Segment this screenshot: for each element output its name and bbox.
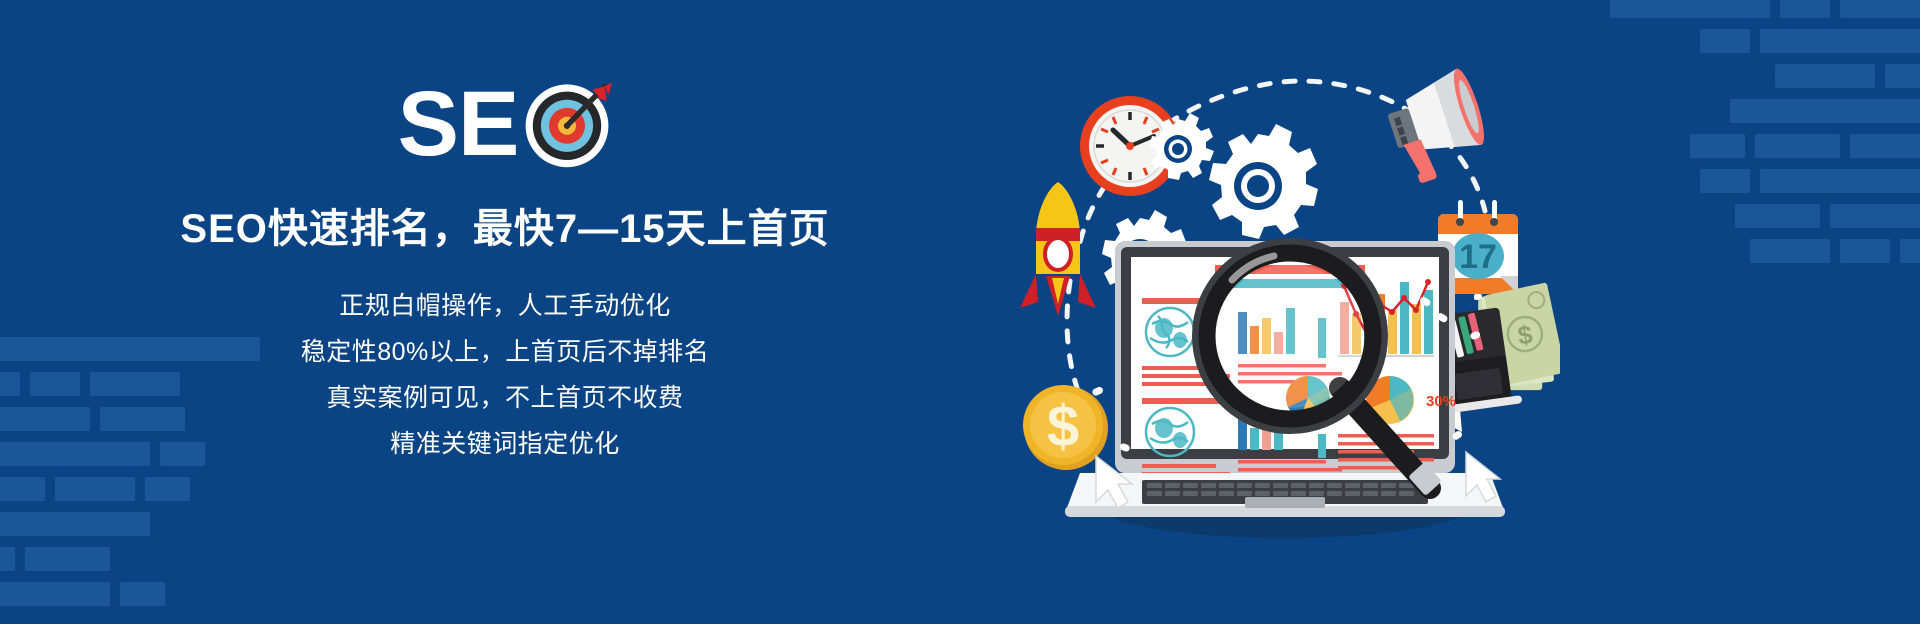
- decor-code-row: [1750, 239, 1920, 263]
- subtext-line: 正规白帽操作，人工手动优化: [339, 286, 671, 322]
- subtext-line: 精准关键词指定优化: [390, 424, 620, 460]
- decor-code-row: [1700, 169, 1920, 193]
- rocket-icon: [1020, 182, 1096, 316]
- decor-code-bar: [1700, 169, 1750, 193]
- decor-code-bar: [1780, 0, 1830, 18]
- decor-code-bar: [1690, 134, 1745, 158]
- decor-code-bar: [1755, 134, 1840, 158]
- decor-code-row: [1730, 99, 1920, 123]
- subtext-line: 稳定性80%以上，上首页后不掉排名: [301, 332, 710, 368]
- decor-code-bar: [1750, 239, 1830, 263]
- coin-dollar-symbol: $: [1047, 394, 1079, 459]
- decor-code-row: [1610, 0, 1920, 18]
- logo-text: SE: [398, 78, 519, 170]
- decor-code-bar: [1700, 29, 1750, 53]
- decor-code-bar: [1850, 134, 1920, 158]
- illustration-svg: 17 $: [1000, 36, 1560, 596]
- decor-code-row: [1700, 29, 1920, 53]
- seo-illustration: 17 $: [1000, 36, 1560, 596]
- decor-code-bar: [1775, 64, 1875, 88]
- seo-logo: SE: [398, 78, 613, 170]
- decor-code-row: [1690, 134, 1920, 158]
- decor-code-bar: [1610, 0, 1770, 18]
- decor-code-bar: [1730, 99, 1920, 123]
- decor-code-bar: [1760, 169, 1920, 193]
- pie-percent-label: 30%: [1426, 393, 1456, 410]
- decor-code-bar: [1830, 204, 1920, 228]
- decor-code-block-top-right: [1610, 0, 1920, 263]
- text-column: SE SEO快速排名，最快7—15天上首页 正规白帽操作，人工手动优化 稳定性8…: [0, 0, 1010, 624]
- decor-code-row: [1775, 64, 1920, 88]
- decor-code-bar: [1840, 239, 1890, 263]
- target-bullseye-icon: [522, 79, 612, 169]
- megaphone-icon: [1381, 66, 1496, 187]
- decor-code-row: [1735, 204, 1920, 228]
- subtext-line: 真实案例可见，不上首页不收费: [326, 378, 683, 414]
- decor-code-bar: [1900, 239, 1920, 263]
- decor-code-bar: [1760, 29, 1920, 53]
- decor-code-bar: [1735, 204, 1820, 228]
- seo-banner: SE SEO快速排名，最快7—15天上首页 正规白帽操作，人工手动优化 稳定性8…: [0, 0, 1920, 624]
- calendar-date-label: 17: [1459, 238, 1497, 276]
- decor-code-bar: [1885, 64, 1920, 88]
- subtext-list: 正规白帽操作，人工手动优化 稳定性80%以上，上首页后不掉排名 真实案例可见，不…: [301, 286, 710, 460]
- decor-code-bar: [1840, 0, 1920, 18]
- page-title: SEO快速排名，最快7—15天上首页: [180, 196, 829, 254]
